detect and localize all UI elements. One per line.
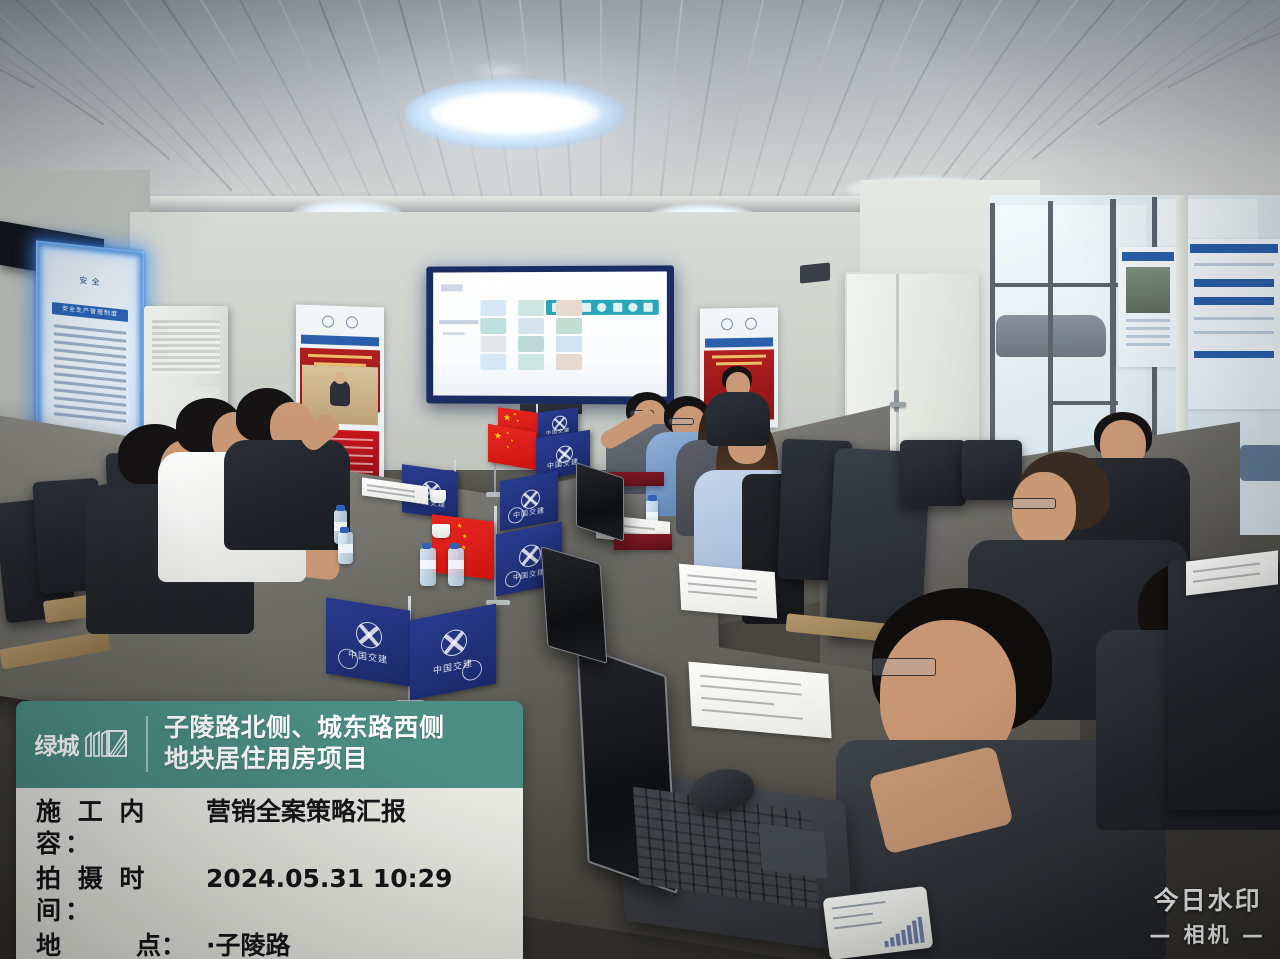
photo-canvas: 安 全 安全生产管理制度: [0, 0, 1280, 959]
glasses-icon: [1012, 498, 1056, 509]
poster-photo: [302, 365, 378, 426]
office-chair[interactable]: [962, 440, 1022, 500]
camera-watermark-line2: — 相机 —: [1149, 919, 1266, 949]
watermark-details: 施 工 内 容： 营销全案策略汇报 拍 摄 时 间： 2024.05.31 10…: [16, 788, 523, 959]
detail-row-location: 地 点： ·子陵路: [16, 928, 523, 959]
poster-blue-strip: [301, 335, 379, 347]
screen-slide: [433, 271, 667, 396]
water-bottle: [448, 548, 464, 586]
detail-row-time: 拍 摄 时 间： 2024.05.31 10:29: [16, 861, 523, 928]
globe-icon: [508, 506, 524, 525]
parked-vehicle: [1240, 445, 1280, 481]
camera-watermark-line1: 今日水印: [1149, 881, 1266, 917]
flag-corporate: 中国交建: [410, 604, 496, 701]
brand-logo: 绿城: [16, 716, 148, 772]
laptop-screen-secondary[interactable]: [541, 546, 608, 664]
poster-logos: [296, 311, 384, 332]
camera-app-watermark: 今日水印 — 相机 —: [1149, 881, 1266, 949]
detail-value-location: ·子陵路: [206, 930, 291, 959]
project-title: 子陵路北侧、城东路西侧 地块居住用房项目: [164, 713, 445, 774]
window-mullion: [1048, 401, 1118, 405]
door-split: [896, 274, 899, 474]
brand-logo-text: 绿城: [35, 727, 79, 761]
detail-label-content: 施 工 内 容：: [36, 796, 206, 859]
detail-value-time: 2024.05.31 10:29: [206, 863, 452, 895]
slide-subtitle-block: [443, 332, 465, 335]
far-board-bar: [1122, 252, 1174, 261]
far-board-bar: [1190, 244, 1278, 253]
laptop-trackpad[interactable]: [758, 823, 827, 879]
greentown-mountain-mark-icon: [84, 729, 128, 759]
torso: [706, 392, 770, 446]
paper-cup: [432, 524, 450, 538]
detail-label-time: 拍 摄 时 间：: [36, 863, 206, 926]
detail-label-location: 地 点：: [36, 930, 206, 959]
water-bottle: [420, 548, 436, 586]
phone-chart-icon: [882, 917, 925, 948]
door-handle-bar[interactable]: [890, 402, 906, 407]
project-title-line1: 子陵路北侧、城东路西侧: [164, 713, 445, 744]
smartphone[interactable]: [823, 886, 934, 959]
watermark-header: 绿城 子陵路北侧、城东路西侧 地块居住用房项目: [16, 701, 523, 788]
door-handle-icon[interactable]: [894, 390, 899, 412]
far-board-image: [1126, 267, 1170, 313]
office-chair[interactable]: [900, 440, 966, 506]
slide-title-block: [441, 284, 463, 291]
document-stack: [688, 662, 831, 739]
poster-logos: [700, 314, 778, 333]
glasses-icon: [668, 418, 694, 425]
ac-vent-icon: [152, 320, 220, 374]
head: [1012, 472, 1076, 546]
water-bottle: [338, 532, 353, 564]
flag-corporate: 中国交建: [500, 471, 558, 531]
lens-flare-icon: [498, 96, 532, 138]
project-title-line2: 地块居住用房项目: [164, 744, 445, 775]
presentation-screen[interactable]: [426, 265, 674, 404]
detail-row-content: 施 工 内 容： 营销全案策略汇报: [16, 794, 523, 861]
lens-flare-icon: [470, 60, 530, 82]
poster-blue-strip: [705, 337, 773, 347]
torso: [224, 440, 350, 550]
office-chair[interactable]: [1168, 560, 1280, 810]
slide-illustrations: [480, 300, 598, 372]
lens-flare-icon: [556, 86, 582, 116]
glasses-icon: [872, 658, 936, 676]
wall-speaker: [800, 262, 830, 283]
paper-cup: [430, 490, 446, 503]
flag-corporate: 中国交建: [326, 597, 410, 686]
far-info-board: [1118, 247, 1178, 367]
watermark-banner: 绿城 子陵路北侧、城东路西侧 地块居住用房项目: [16, 701, 523, 959]
detail-value-content: 营销全案策略汇报: [206, 796, 406, 828]
globe-icon: [505, 569, 521, 588]
poster-figure-head: [334, 372, 346, 384]
far-info-board: [1186, 239, 1280, 409]
document-sheet: [679, 564, 777, 619]
slide-subtitle-block: [439, 320, 478, 324]
